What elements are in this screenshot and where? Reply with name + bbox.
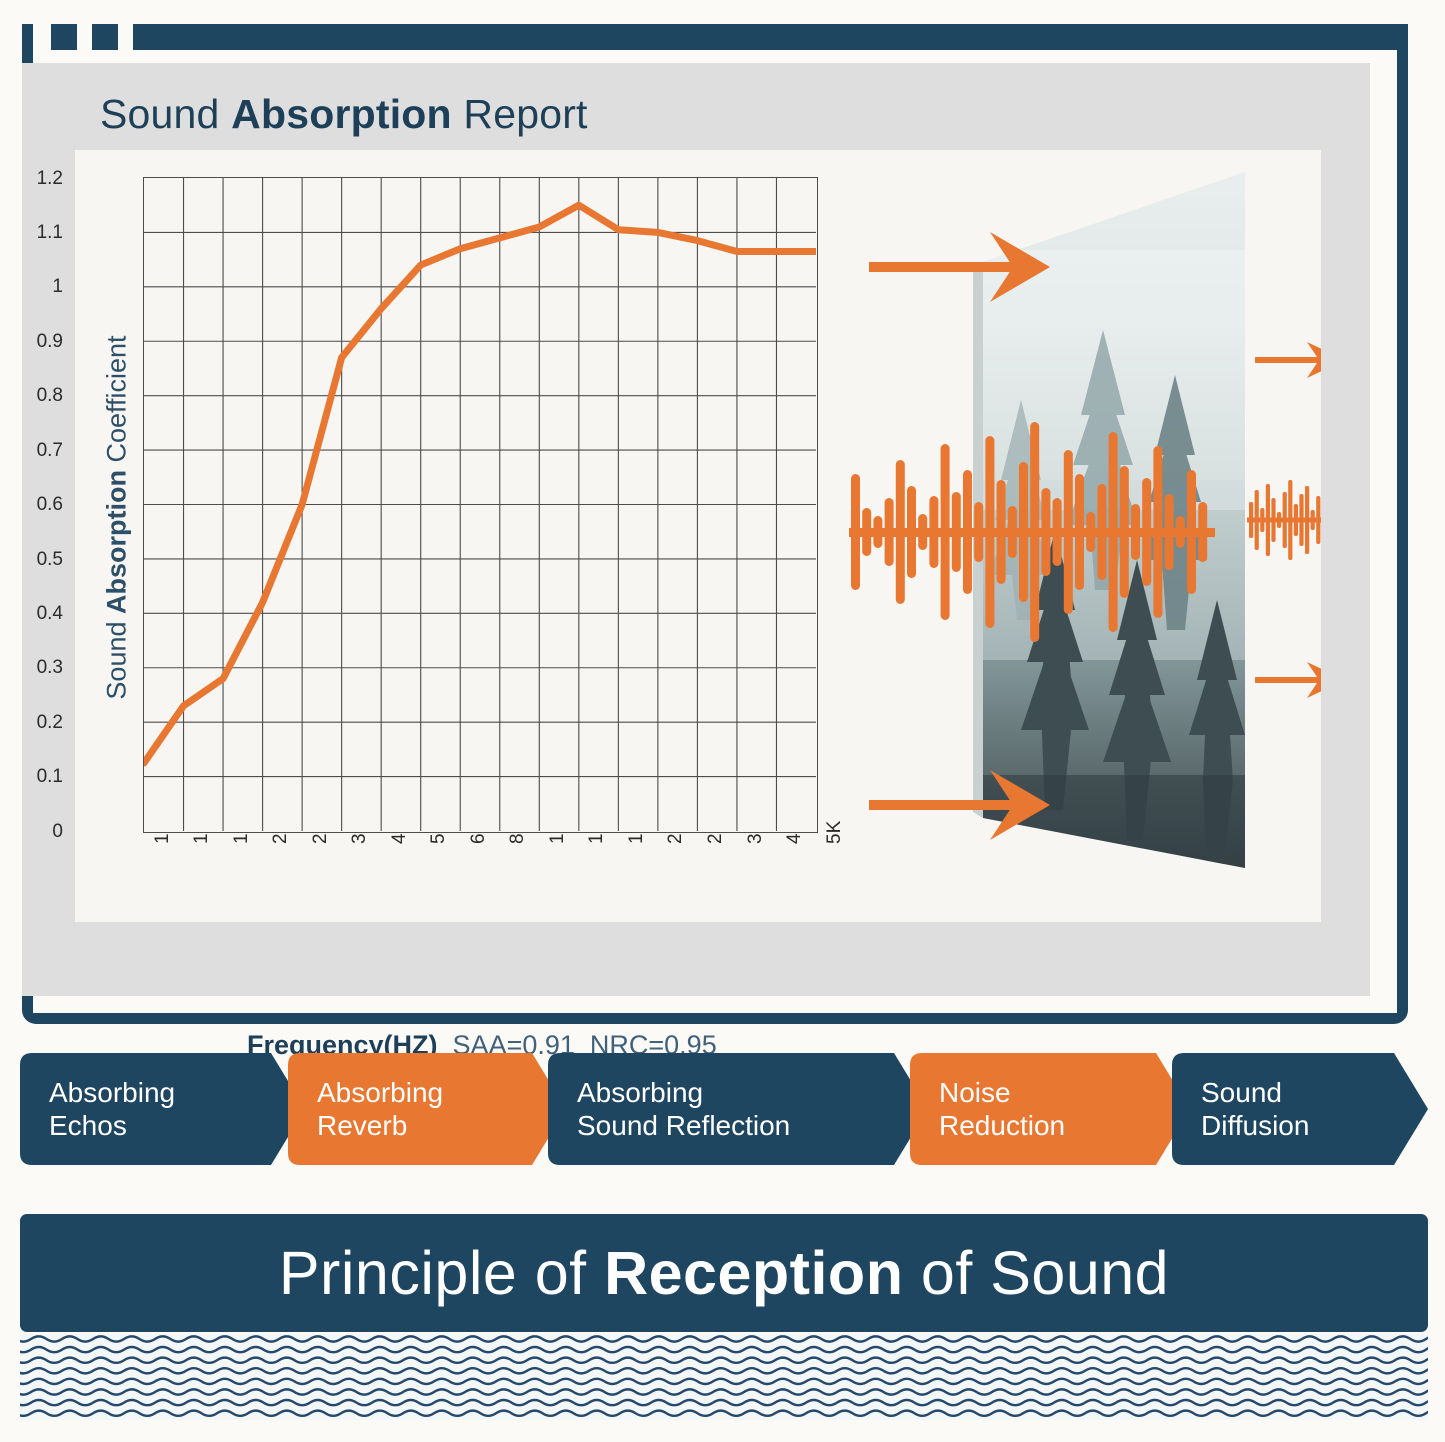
badge-absorbing-reverb[interactable]: Absorbing Reverb <box>288 1053 566 1165</box>
page-title-suffix: Report <box>452 91 588 137</box>
y-axis-label: Sound Absorption Coefficient <box>102 188 133 848</box>
y-tick-label: 0.4 <box>3 603 63 625</box>
y-tick-label: 0.6 <box>3 494 63 516</box>
titlebar-square-1 <box>51 24 77 50</box>
bottom-banner: Principle of Reception of Sound <box>20 1214 1428 1332</box>
arrow-out-top <box>1255 342 1321 378</box>
panel-illustration <box>845 150 1321 922</box>
titlebar-square-2 <box>92 24 118 50</box>
plot-svg <box>144 178 816 831</box>
y-tick-label: 1.2 <box>3 168 63 190</box>
incoming-soundwave <box>849 422 1215 642</box>
y-tick-label: 0.9 <box>3 331 63 353</box>
y-tick-label: 0.1 <box>3 766 63 788</box>
page-title-prefix: Sound <box>100 91 231 137</box>
y-tick-label: 0.7 <box>3 440 63 462</box>
page-title-strong: Absorption <box>231 91 452 137</box>
outgoing-soundwave <box>1247 480 1321 560</box>
feature-badge-row: Absorbing EchosAbsorbing ReverbAbsorbing… <box>0 1053 1445 1165</box>
product-infographic-card: Sound Absorption Report Sound Absorption… <box>0 0 1445 1442</box>
illustration-svg <box>845 150 1321 922</box>
y-tick-label: 0.2 <box>3 712 63 734</box>
y-tick-label: 0.8 <box>3 385 63 407</box>
wave-pattern-footer <box>20 1334 1428 1420</box>
badge-absorbing-sound-reflection[interactable]: Absorbing Sound Reflection <box>548 1053 928 1165</box>
wave-pattern-svg <box>20 1334 1428 1420</box>
bottom-title-suffix: of Sound <box>903 1239 1169 1307</box>
y-axis-label-strong: Absorption <box>102 470 132 614</box>
badge-label: Absorbing Echos <box>49 1076 175 1142</box>
plot-area <box>143 177 818 833</box>
bottom-title: Principle of Reception of Sound <box>279 1238 1169 1308</box>
bottom-title-strong: Reception <box>604 1239 903 1307</box>
y-tick-label: 1.1 <box>3 222 63 244</box>
series-line <box>144 205 816 763</box>
badge-label: Noise Reduction <box>939 1076 1065 1142</box>
absorption-chart: Sound Absorption Coefficient 00.10.20.30… <box>75 150 845 922</box>
x-tick-label: 5K <box>824 821 846 844</box>
chart-card: Sound Absorption Coefficient 00.10.20.30… <box>75 150 1321 922</box>
badge-label: Absorbing Reverb <box>317 1076 443 1142</box>
y-tick-label: 1 <box>3 276 63 298</box>
bottom-title-prefix: Principle of <box>279 1239 604 1307</box>
badge-label: Sound Diffusion <box>1201 1076 1309 1142</box>
y-tick-label: 0 <box>3 821 63 843</box>
page-title: Sound Absorption Report <box>100 91 588 138</box>
y-axis-label-prefix: Sound <box>102 614 132 700</box>
arrow-out-bottom <box>1255 662 1321 698</box>
badge-label: Absorbing Sound Reflection <box>577 1076 790 1142</box>
y-axis-label-suffix: Coefficient <box>102 335 132 470</box>
badge-absorbing-echos[interactable]: Absorbing Echos <box>20 1053 305 1165</box>
badge-noise-reduction[interactable]: Noise Reduction <box>910 1053 1190 1165</box>
report-panel: Sound Absorption Report Sound Absorption… <box>22 63 1370 996</box>
badge-sound-diffusion[interactable]: Sound Diffusion <box>1172 1053 1428 1165</box>
window-titlebar <box>22 24 1408 50</box>
y-tick-label: 0.5 <box>3 549 63 571</box>
y-tick-label: 0.3 <box>3 657 63 679</box>
titlebar-bar <box>133 24 1408 50</box>
